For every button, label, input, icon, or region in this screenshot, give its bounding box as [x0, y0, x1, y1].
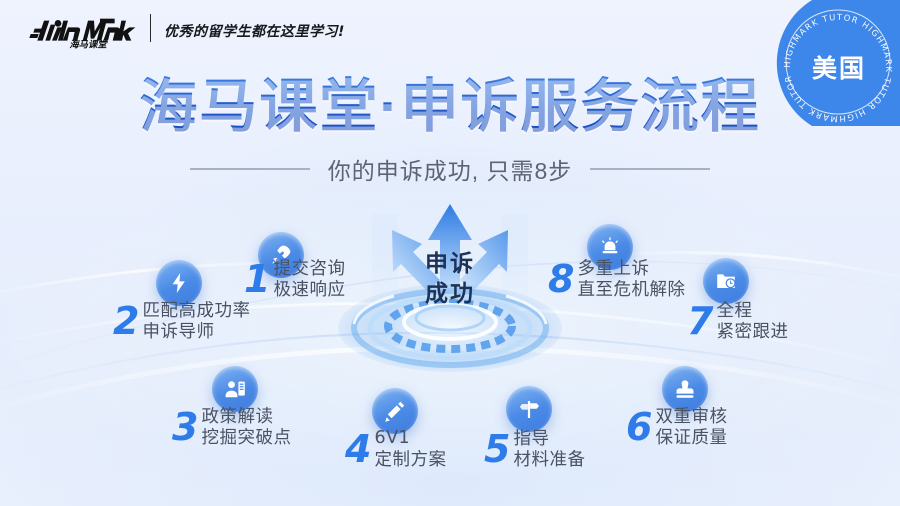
- step-4-number: 4: [345, 430, 371, 468]
- poster: 海马课堂 优秀的留学生都在这里学习! HIGHMARK TUTOR HIGHMA…: [0, 0, 900, 506]
- step-2-lines: 匹配高成功率 申诉导师: [142, 300, 250, 342]
- step-6-lines: 双重审核 保证质量: [655, 406, 727, 448]
- step-2-line-1: 匹配高成功率: [142, 300, 250, 321]
- step-5-line-2: 材料准备: [513, 449, 585, 470]
- step-8-line-1: 多重上诉: [577, 258, 685, 279]
- step-3-text: 3 政策解读 挖掘突破点: [172, 406, 291, 448]
- step-1-text: 1 提交咨询 极速响应: [244, 258, 345, 300]
- step-8-text: 8 多重上诉 直至危机解除: [548, 258, 685, 300]
- step-7-number: 7: [687, 302, 713, 340]
- step-3-number: 3: [172, 408, 198, 446]
- step-8-lines: 多重上诉 直至危机解除: [577, 258, 685, 300]
- hub-line-1: 申诉: [330, 248, 570, 278]
- step-6-line-2: 保证质量: [655, 427, 727, 448]
- step-3-lines: 政策解读 挖掘突破点: [201, 406, 291, 448]
- logo-sub-text: 海马课堂: [69, 38, 108, 50]
- step-5-number: 5: [484, 430, 510, 468]
- step-1-line-1: 提交咨询: [273, 258, 345, 279]
- step-7-line-2: 紧密跟进: [716, 321, 788, 342]
- header-divider: [150, 14, 151, 42]
- rule-left: [190, 168, 310, 170]
- step-1-lines: 提交咨询 极速响应: [273, 258, 345, 300]
- signpost-icon: [506, 386, 552, 432]
- step-7-text: 7 全程 紧密跟进: [687, 300, 788, 342]
- highmark-logo: 海马课堂: [28, 10, 148, 50]
- step-6-text: 6 双重审核 保证质量: [626, 406, 727, 448]
- subtitle-row: 你的申诉成功, 只需8步: [0, 152, 900, 186]
- step-5-text: 5 指导 材料准备: [484, 428, 585, 470]
- step-4-line-1: 6V1: [374, 428, 446, 449]
- step-2-number: 2: [113, 302, 139, 340]
- step-2-text: 2 匹配高成功率 申诉导师: [113, 300, 250, 342]
- header-tagline: 优秀的留学生都在这里学习!: [164, 21, 345, 41]
- page-subtitle: 你的申诉成功, 只需8步: [328, 152, 573, 186]
- center-hub: 申诉 成功: [330, 196, 570, 386]
- step-1-number: 1: [244, 260, 270, 298]
- hub-label: 申诉 成功: [330, 248, 570, 308]
- step-4-text: 4 6V1 定制方案: [345, 428, 446, 470]
- step-7-lines: 全程 紧密跟进: [716, 300, 788, 342]
- page-title: 海马课堂·申诉服务流程: [0, 76, 900, 138]
- step-3-line-1: 政策解读: [201, 406, 291, 427]
- hub-line-2: 成功: [330, 278, 570, 308]
- step-6-number: 6: [626, 408, 652, 446]
- rule-right: [590, 168, 710, 170]
- step-2-line-2: 申诉导师: [142, 321, 250, 342]
- step-5-lines: 指导 材料准备: [513, 428, 585, 470]
- step-4-lines: 6V1 定制方案: [374, 428, 446, 470]
- step-5-line-1: 指导: [513, 428, 585, 449]
- step-8-number: 8: [548, 260, 574, 298]
- step-8-line-2: 直至危机解除: [577, 279, 685, 300]
- step-6-line-1: 双重审核: [655, 406, 727, 427]
- step-3-line-2: 挖掘突破点: [201, 427, 291, 448]
- step-4-line-2: 定制方案: [374, 449, 446, 470]
- step-7-line-1: 全程: [716, 300, 788, 321]
- clock-folder-icon: [703, 258, 749, 304]
- step-1-line-2: 极速响应: [273, 279, 345, 300]
